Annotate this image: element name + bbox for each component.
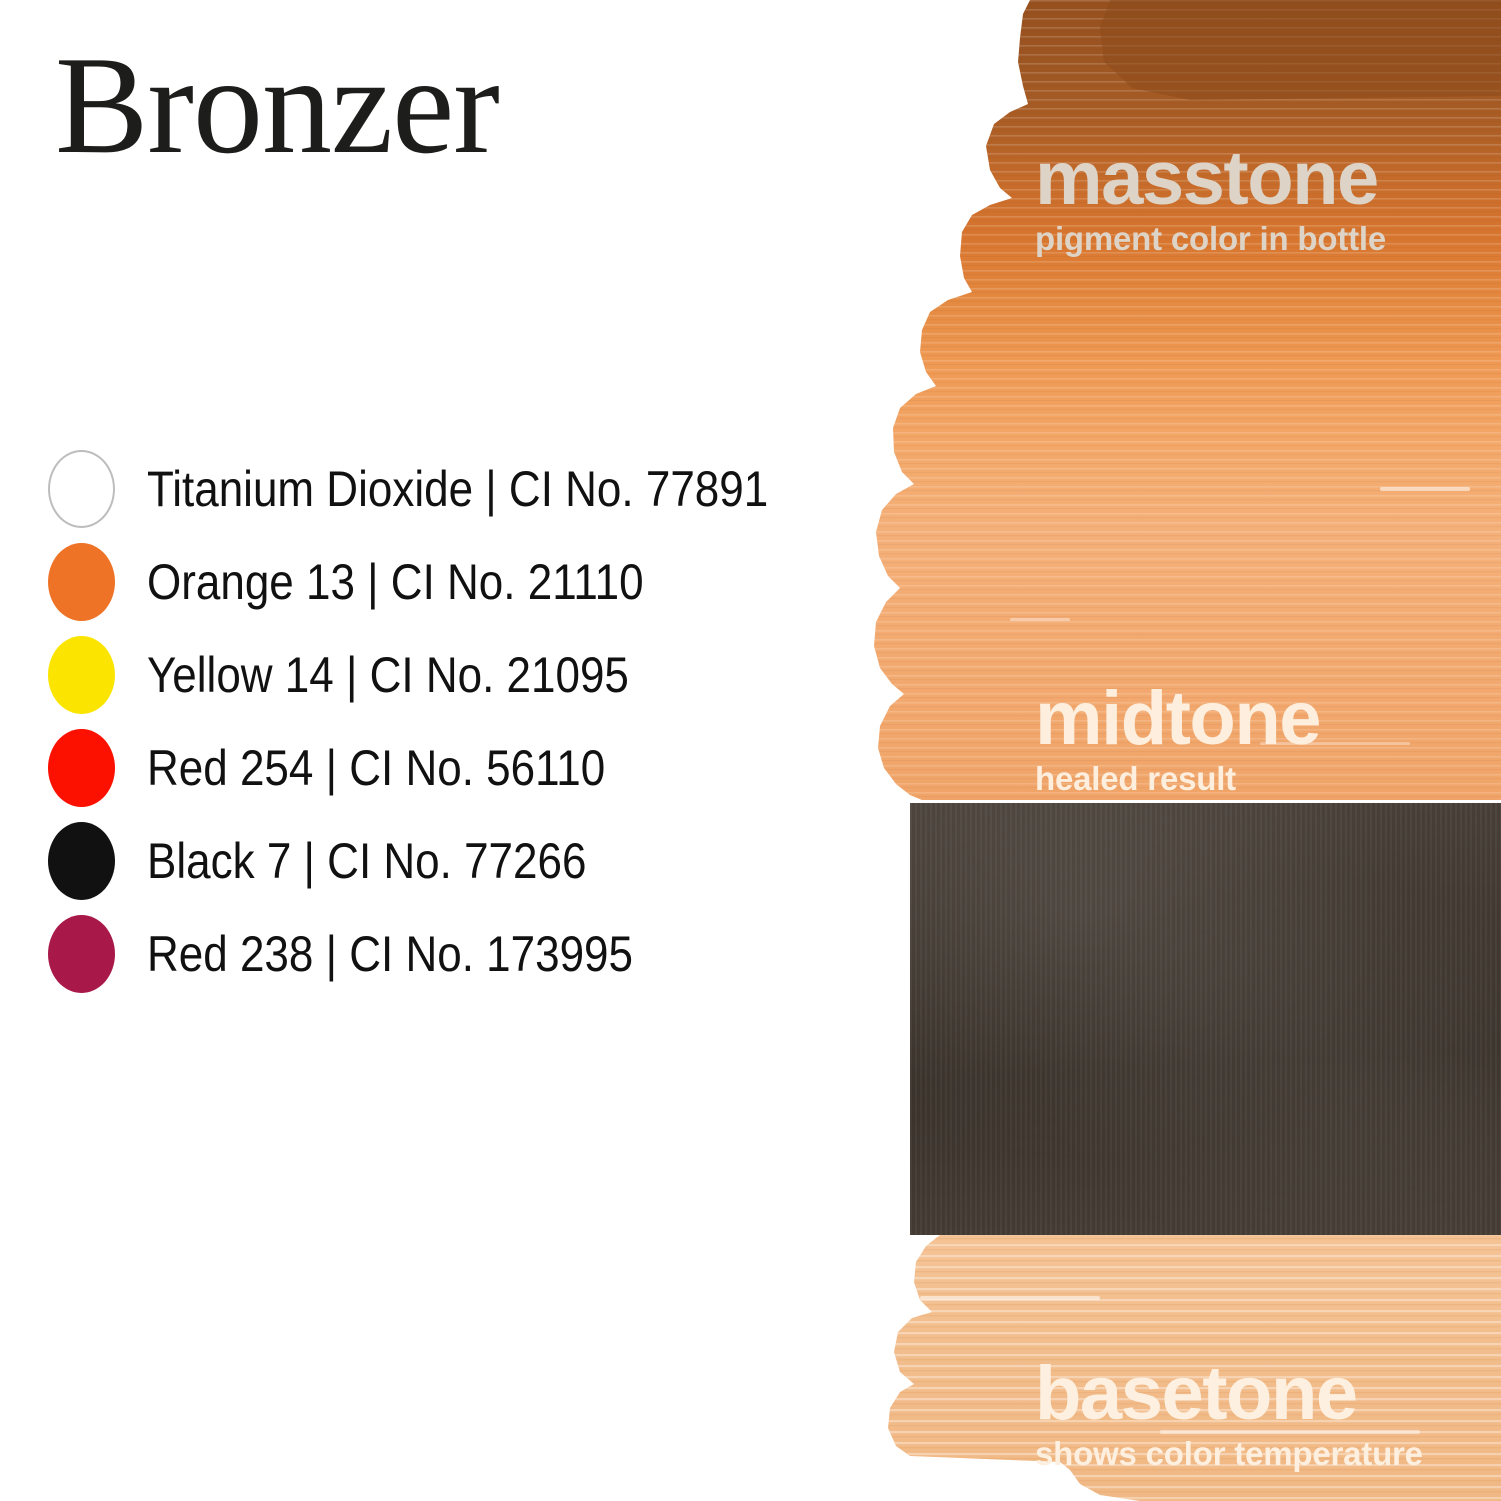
list-item: Red 238 | CI No. 173995 — [48, 907, 868, 1000]
page-title: Bronzer — [55, 28, 499, 185]
masstone-label-group: masstone pigment color in bottle — [1035, 143, 1386, 255]
pigment-label: Black 7 | CI No. 77266 — [147, 836, 586, 886]
midtone-label-group: midtone healed result — [1035, 683, 1320, 795]
list-item: Titanium Dioxide | CI No. 77891 — [48, 442, 868, 535]
pigment-label: Orange 13 | CI No. 21110 — [147, 557, 644, 607]
pigment-list: Titanium Dioxide | CI No. 77891 Orange 1… — [48, 442, 868, 1000]
pigment-label: Red 238 | CI No. 173995 — [147, 929, 633, 979]
midtone-title: midtone — [1035, 683, 1320, 755]
masstone-subtitle: pigment color in bottle — [1035, 223, 1386, 254]
basetone-label-group: basetone shows color temperature — [1035, 1358, 1423, 1470]
paint-highlight — [920, 1296, 1100, 1300]
color-swatch-red-238 — [48, 915, 115, 993]
midtone-subtitle: healed result — [1035, 763, 1320, 794]
basetone-subtitle: shows color temperature — [1035, 1438, 1423, 1469]
color-swatch-yellow-14 — [48, 636, 115, 714]
color-swatch-titanium-dioxide — [48, 450, 115, 528]
list-item: Red 254 | CI No. 56110 — [48, 721, 868, 814]
pigment-label: Red 254 | CI No. 56110 — [147, 743, 605, 793]
pigment-label: Titanium Dioxide | CI No. 77891 — [147, 464, 768, 514]
masstone-title: masstone — [1035, 143, 1386, 215]
color-swatch-red-254 — [48, 729, 115, 807]
color-swatch-orange-13 — [48, 543, 115, 621]
pigment-breakdown-page: Bronzer Titanium Dioxide | CI No. 77891 … — [0, 0, 1501, 1501]
color-swatch-black-7 — [48, 822, 115, 900]
masstone-top-blob — [1100, 0, 1501, 100]
list-item: Yellow 14 | CI No. 21095 — [48, 628, 868, 721]
list-item: Black 7 | CI No. 77266 — [48, 814, 868, 907]
pigment-label: Yellow 14 | CI No. 21095 — [147, 650, 629, 700]
basetone-title: basetone — [1035, 1358, 1423, 1430]
dark-tone-patch — [910, 803, 1501, 1235]
paint-highlight — [1380, 487, 1470, 491]
list-item: Orange 13 | CI No. 21110 — [48, 535, 868, 628]
paint-highlight — [1010, 618, 1070, 621]
